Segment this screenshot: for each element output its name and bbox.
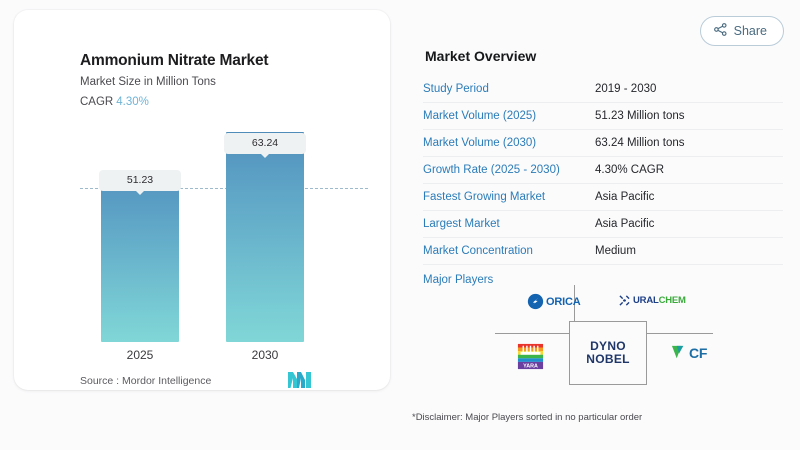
share-button[interactable]: Share: [700, 16, 784, 46]
orica-mark-icon: [527, 293, 544, 310]
row-label: Market Volume (2030): [423, 137, 595, 149]
table-row: Largest Market Asia Pacific: [423, 211, 783, 238]
row-value: Asia Pacific: [595, 191, 654, 203]
dyno-nobel-line2: NOBEL: [586, 353, 630, 366]
logo-orica: ORICA: [527, 293, 580, 310]
source-text: Source : Mordor Intelligence: [80, 375, 211, 387]
row-value: Medium: [595, 245, 636, 257]
cf-wordmark: CF: [689, 345, 707, 361]
market-overview-table: Study Period 2019 - 2030 Market Volume (…: [423, 76, 783, 295]
logo-yara: YARA: [517, 343, 544, 370]
row-label: Market Concentration: [423, 245, 595, 257]
chart-card: Ammonium Nitrate Market Market Size in M…: [14, 10, 390, 390]
row-label: Fastest Growing Market: [423, 191, 595, 203]
bar-2030[interactable]: [226, 132, 304, 342]
row-value: 63.24 Million tons: [595, 137, 685, 149]
share-button-label: Share: [734, 24, 767, 38]
table-row: Fastest Growing Market Asia Pacific: [423, 184, 783, 211]
major-players-logo-grid: ORICA URALCHEM YARA CF: [495, 285, 713, 385]
uralchem-mark-icon: [619, 295, 630, 306]
orica-wordmark: ORICA: [546, 296, 580, 308]
table-row: Market Volume (2030) 63.24 Million tons: [423, 130, 783, 157]
market-overview-title: Market Overview: [425, 48, 536, 64]
table-row: Market Concentration Medium: [423, 238, 783, 265]
x-axis-tick-2025: 2025: [95, 348, 185, 362]
uralchem-wordmark-part1: URAL: [633, 295, 659, 306]
yara-wordmark: YARA: [523, 363, 538, 369]
logo-dyno-nobel: DYNO NOBEL: [569, 321, 647, 385]
uralchem-wordmark-part2: CHEM: [659, 295, 686, 306]
bar-chart-plot: 51.23 63.24 2025 2030: [14, 10, 390, 390]
bar-2025[interactable]: [101, 172, 179, 342]
table-row: Market Volume (2025) 51.23 Million tons: [423, 103, 783, 130]
row-value: Asia Pacific: [595, 218, 654, 230]
bar-value-label-2025: 51.23: [99, 170, 181, 191]
cf-mark-icon: [671, 343, 690, 362]
share-icon: [714, 23, 727, 39]
row-label: Market Volume (2025): [423, 110, 595, 122]
logo-cf: CF: [671, 343, 707, 362]
x-axis-tick-2030: 2030: [220, 348, 310, 362]
row-label: Growth Rate (2025 - 2030): [423, 164, 595, 176]
disclaimer-text: *Disclaimer: Major Players sorted in no …: [412, 412, 642, 423]
row-value: 51.23 Million tons: [595, 110, 685, 122]
logo-uralchem: URALCHEM: [619, 295, 686, 306]
yara-mark-icon: YARA: [517, 343, 544, 370]
row-label: Largest Market: [423, 218, 595, 230]
mordor-intelligence-logo-icon: [288, 372, 314, 393]
table-row: Growth Rate (2025 - 2030) 4.30% CAGR: [423, 157, 783, 184]
row-value: 2019 - 2030: [595, 83, 656, 95]
bar-value-label-2030: 63.24: [224, 133, 306, 154]
row-label: Study Period: [423, 83, 595, 95]
table-row: Study Period 2019 - 2030: [423, 76, 783, 103]
row-value: 4.30% CAGR: [595, 164, 664, 176]
